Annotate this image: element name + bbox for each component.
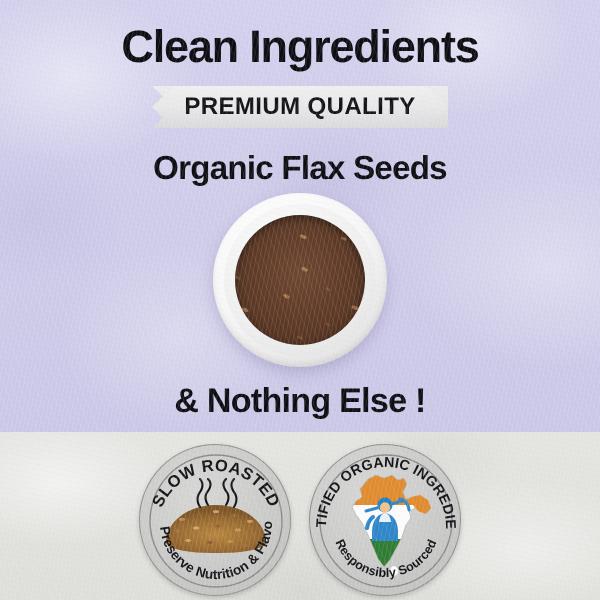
badge-certified-organic-artwork: CERTIFIED ORGANIC INGREDIENTS Responsibl… — [310, 445, 462, 597]
steam-wisp-icon — [198, 479, 237, 507]
product-feature-poster: Clean Ingredients PREMIUM QUALITY Organi… — [0, 0, 600, 600]
badge-slow-roasted: SLOW ROASTED To Preserve Nutrition & Fla… — [139, 444, 291, 596]
flax-seed-bowl-image: White ceramic bowl filled with brown fla… — [213, 193, 387, 367]
badge-certified-organic: CERTIFIED ORGANIC INGREDIENTS Responsibl… — [309, 444, 461, 596]
bowl-seed-well — [235, 215, 365, 345]
flax-seeds-layer-two — [235, 215, 365, 345]
page-title: Clean Ingredients — [0, 21, 600, 73]
badge-slow-roasted-artwork: SLOW ROASTED To Preserve Nutrition & Fla… — [140, 445, 292, 597]
product-name: Organic Flax Seeds — [0, 148, 600, 188]
premium-quality-label: PREMIUM QUALITY — [184, 93, 415, 121]
background-bottom-panel — [0, 432, 600, 600]
bowl-image-alt: White ceramic bowl filled with brown fla… — [213, 193, 214, 194]
premium-quality-ribbon: PREMIUM QUALITY — [152, 86, 448, 128]
closing-statement: & Nothing Else ! — [0, 381, 600, 422]
india-northeast-region — [411, 495, 431, 514]
badge-slow-roasted-arc-top: SLOW ROASTED — [149, 457, 283, 510]
